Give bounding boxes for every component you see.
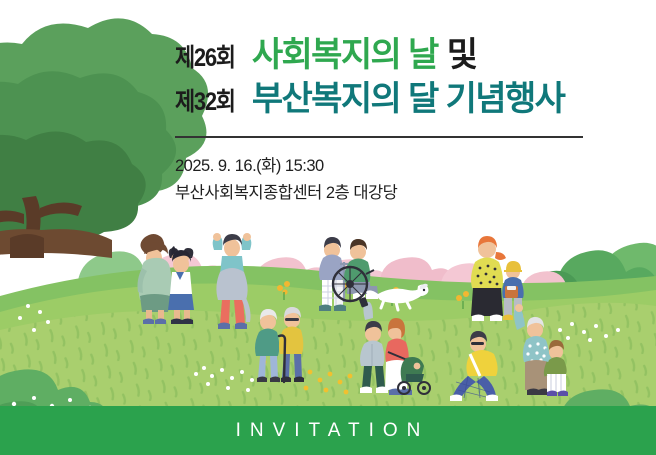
event-venue: 부산사회복지종합센터 2층 대강당	[175, 180, 595, 207]
title-line-1-suffix: 및	[447, 38, 477, 72]
title-line-1: 제26회 사회복지의 날 및	[175, 38, 595, 72]
invitation-poster: 제26회 사회복지의 날 및 제32회 부산복지의 달 기념행사 2025. 9…	[0, 0, 656, 455]
title-divider	[175, 136, 583, 138]
poster-text-block: 제26회 사회복지의 날 및 제32회 부산복지의 달 기념행사 2025. 9…	[175, 38, 595, 206]
event-datetime: 2025. 9. 16.(화) 15:30	[175, 153, 595, 180]
title-line-2: 제32회 부산복지의 달 기념행사	[175, 82, 595, 116]
title-line-1-ordinal: 제26회	[175, 46, 235, 71]
figure-pregnant-woman	[138, 234, 172, 324]
invitation-banner: INVITATION	[0, 406, 656, 455]
title-line-1-main: 사회복지의 날	[252, 38, 438, 72]
title-line-2-ordinal: 제32회	[175, 90, 235, 115]
invitation-banner-label: INVITATION	[227, 420, 430, 442]
title-line-2-main: 부산복지의 달 기념행사	[252, 82, 565, 116]
